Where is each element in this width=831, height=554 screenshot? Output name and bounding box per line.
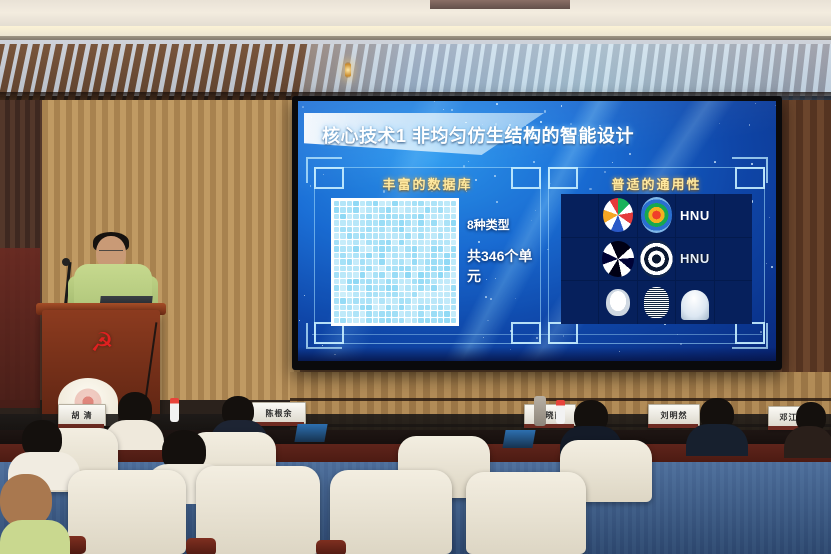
audience-chair[interactable] bbox=[466, 472, 586, 554]
speaker-glasses-icon bbox=[99, 250, 123, 257]
audience-person-shoulders bbox=[686, 424, 748, 456]
nameplate-2: 陈根余 bbox=[252, 402, 306, 424]
chair-armrest bbox=[186, 538, 216, 554]
nameplate-3: 彭晓南 bbox=[524, 404, 576, 426]
thermos-flask[interactable] bbox=[534, 396, 546, 426]
screen-bottom-vignette bbox=[298, 347, 776, 361]
audience-laptop-1[interactable] bbox=[294, 424, 327, 442]
party-emblem-icon: ☭ bbox=[85, 327, 119, 357]
water-bottle-2[interactable] bbox=[556, 400, 565, 424]
ceiling-recessed-lamp bbox=[430, 0, 570, 9]
ceiling-spotlight-icon bbox=[345, 62, 351, 78]
screen-glare bbox=[298, 101, 776, 361]
audience-person-shoulders bbox=[0, 520, 70, 554]
presentation-display[interactable]: 核心技术1 非均匀仿生结构的智能设计 丰富的数据库 8种类型 共346个单元 普… bbox=[298, 101, 776, 361]
nameplate-4-base bbox=[648, 424, 698, 428]
audience-person-shoulders bbox=[784, 426, 831, 458]
nameplate-1: 胡 清 bbox=[58, 404, 106, 426]
nameplate-4: 刘明然 bbox=[648, 404, 700, 426]
right-wall-wood-panel bbox=[775, 100, 831, 410]
nameplate-3-base bbox=[524, 424, 574, 428]
left-wall-red-curtain bbox=[0, 248, 40, 408]
audience-laptop-2[interactable] bbox=[502, 430, 535, 448]
chair-armrest bbox=[316, 540, 346, 554]
audience-chair[interactable] bbox=[330, 470, 452, 554]
screenshot-root: 核心技术1 非均匀仿生结构的智能设计 丰富的数据库 8种类型 共346个单元 普… bbox=[0, 0, 831, 554]
water-bottle-1[interactable] bbox=[170, 398, 179, 422]
microphone-head-icon bbox=[62, 258, 70, 266]
